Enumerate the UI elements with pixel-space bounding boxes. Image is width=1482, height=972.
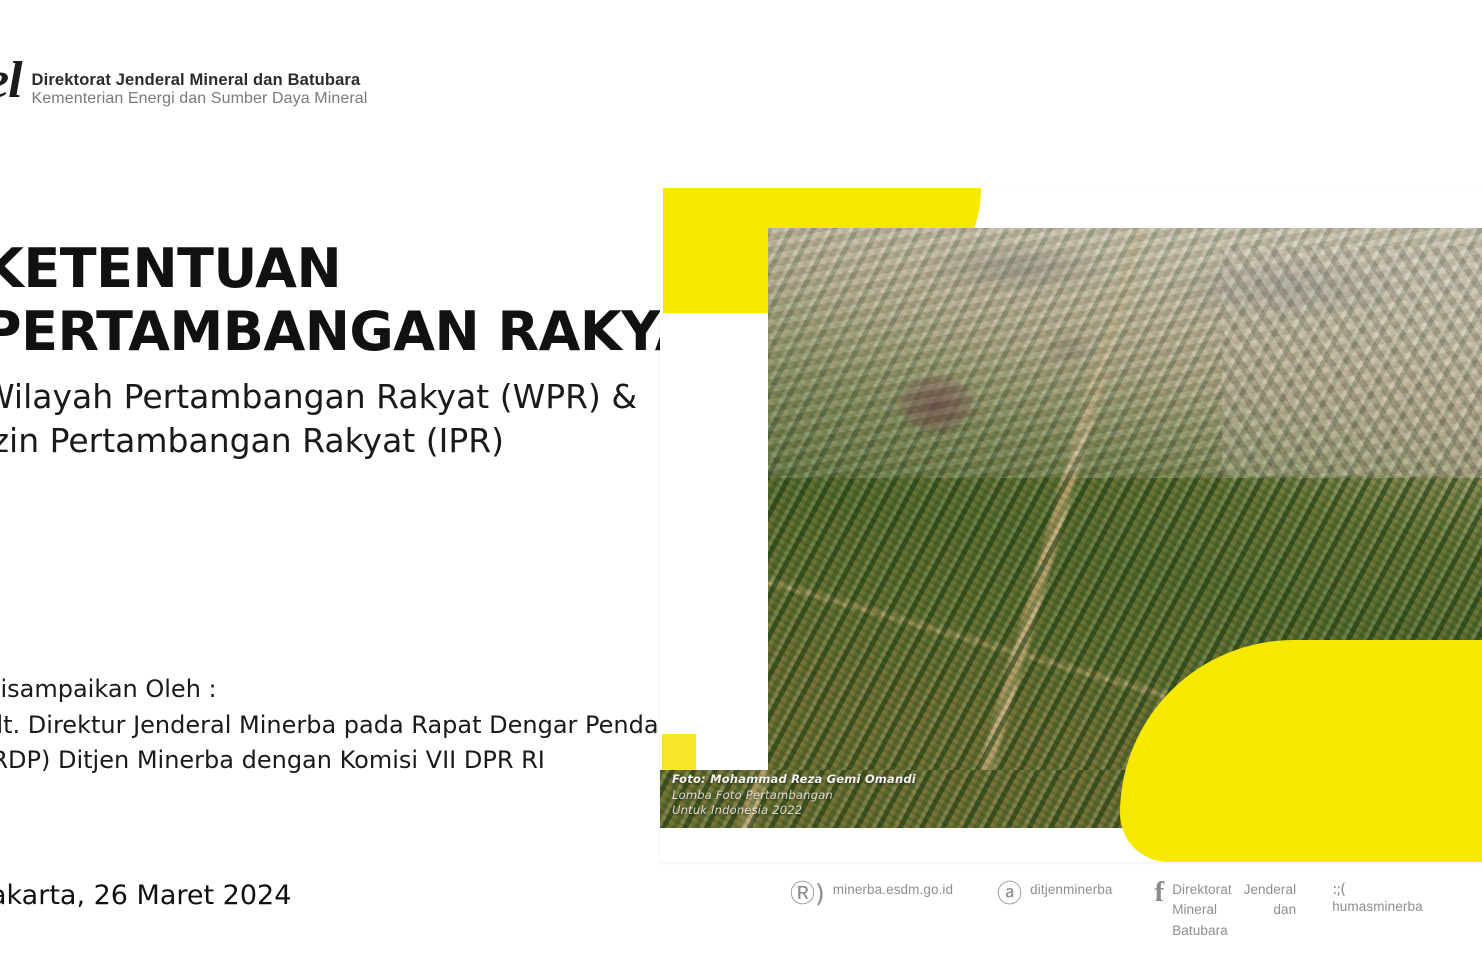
slide-footer: Ⓡ) minerba.esdm.go.id ⓐ ditjenminerba f …	[0, 874, 1482, 958]
footer-item-instagram[interactable]: :;( humasminerba	[1332, 880, 1423, 917]
footer-item-website[interactable]: Ⓡ) minerba.esdm.go.id	[790, 880, 953, 906]
at-icon: ⓐ	[997, 881, 1022, 906]
globe-icon: Ⓡ)	[790, 881, 825, 906]
facebook-label: Direktorat Jenderal Mineral dan Batubara	[1172, 880, 1296, 941]
title-block: KETENTUAN PERTAMBANGAN RAKYAT Wilayah Pe…	[0, 238, 662, 462]
footer-item-twitter[interactable]: ⓐ ditjenminerba	[997, 880, 1112, 906]
page-subtitle-line2: Izin Pertambangan Rakyat (IPR)	[0, 419, 662, 463]
presenter-block: Disampaikan Oleh : Plt. Direktur Jendera…	[0, 672, 682, 779]
photo-credit-line-1: Foto: Mohammad Reza Gemi Omandi	[672, 772, 916, 787]
org-name-primary: Direktorat Jenderal Mineral dan Batubara	[32, 71, 368, 90]
instagram-label: humasminerba	[1332, 897, 1423, 917]
header-org-text: Direktorat Jenderal Mineral dan Batubara…	[32, 55, 368, 108]
footer-item-facebook[interactable]: f Direktorat Jenderal Mineral dan Batuba…	[1155, 880, 1297, 941]
esdm-logo-icon: el	[0, 55, 32, 107]
quarry-edge-overlay	[1222, 246, 1482, 476]
presenter-line-2: (RDP) Ditjen Minerba dengan Komisi VII D…	[0, 743, 682, 779]
photo-credit-line-2: Lomba Foto Pertambangan	[672, 788, 916, 803]
slide-header: el Direktorat Jenderal Mineral dan Batub…	[0, 55, 367, 135]
photo-credit: Foto: Mohammad Reza Gemi Omandi Lomba Fo…	[672, 772, 916, 818]
photo-credit-line-3: Untuk Indonesia 2022	[672, 803, 916, 818]
presenter-line-1: Plt. Direktur Jenderal Minerba pada Rapa…	[0, 708, 682, 744]
twitter-label: ditjenminerba	[1030, 880, 1112, 900]
instagram-icon: :;(	[1332, 882, 1345, 897]
page-title-line2: PERTAMBANGAN RAKYAT	[0, 301, 662, 364]
footer-contact-bar: Ⓡ) minerba.esdm.go.id ⓐ ditjenminerba f …	[790, 880, 1482, 941]
facebook-icon: f	[1155, 878, 1165, 907]
page-title-line1: KETENTUAN	[0, 238, 662, 301]
page-subtitle-line1: Wilayah Pertambangan Rakyat (WPR) &	[0, 375, 662, 419]
website-label: minerba.esdm.go.id	[833, 880, 953, 900]
visual-panel: Foto: Mohammad Reza Gemi Omandi Lomba Fo…	[658, 182, 1482, 862]
org-name-secondary: Kementerian Energi dan Sumber Daya Miner…	[32, 91, 368, 108]
presenter-label: Disampaikan Oleh :	[0, 672, 682, 708]
